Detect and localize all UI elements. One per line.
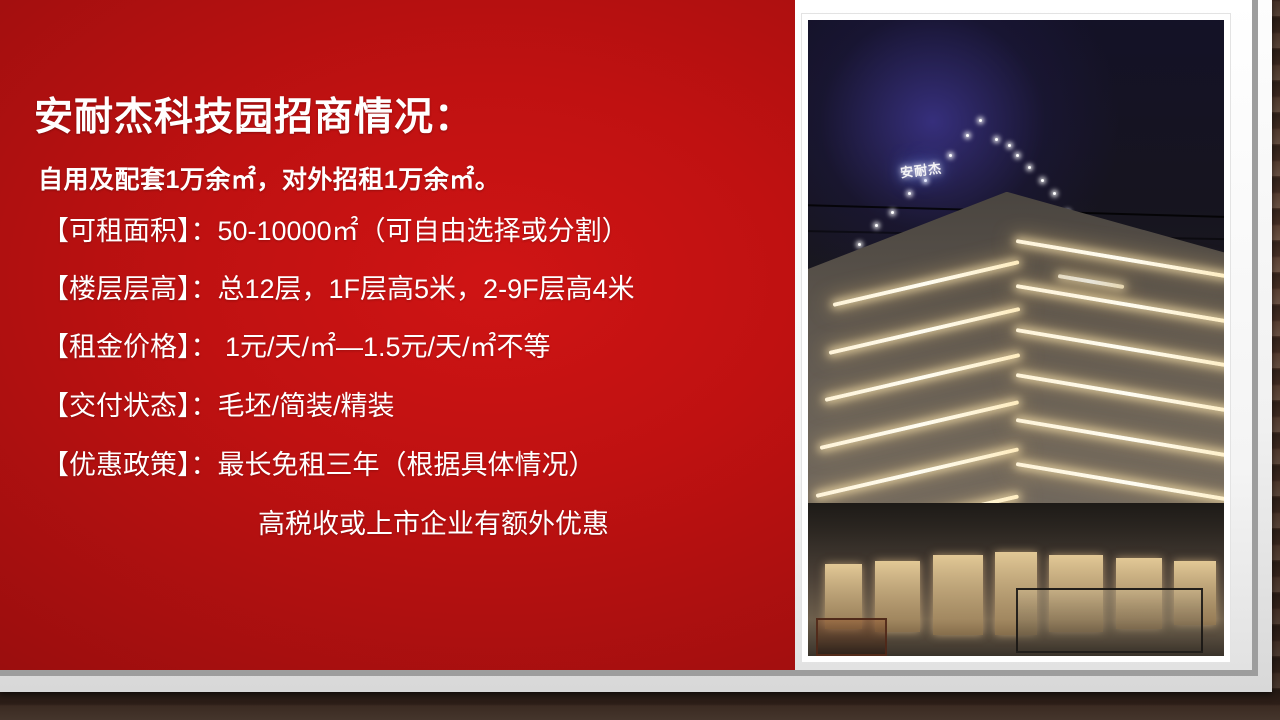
foreground-planter xyxy=(816,618,887,656)
facade-light xyxy=(1016,154,1019,157)
frame-board: 安耐杰科技园招商情况： 自用及配套1万余㎡，对外招租1万余㎡。 【可租面积】：5… xyxy=(0,0,1252,670)
facade-light xyxy=(995,138,998,141)
lobby-window xyxy=(933,555,983,634)
facade-light xyxy=(908,192,911,195)
red-content-panel: 安耐杰科技园招商情况： 自用及配套1万余㎡，对外招租1万余㎡。 【可租面积】：5… xyxy=(0,0,795,670)
facade-light xyxy=(875,224,878,227)
bullet-incentive-policy: 【优惠政策】：最长免租三年（根据具体情况） xyxy=(42,452,596,479)
bullet-rent-price: 【租金价格】： 1元/天/㎡—1.5元/天/㎡不等 xyxy=(42,334,551,361)
facade-light xyxy=(858,243,861,246)
bullet-incentive-policy-extra: 高税收或上市企业有额外优惠 xyxy=(258,511,609,538)
text-block: 安耐杰科技园招商情况： 自用及配套1万余㎡，对外招租1万余㎡。 【可租面积】：5… xyxy=(0,0,795,670)
podium-lobby xyxy=(808,503,1224,656)
facade-light xyxy=(979,119,982,122)
subheading: 自用及配套1万余㎡，对外招租1万余㎡。 xyxy=(38,160,500,196)
frame-mat-shadow: 安耐杰科技园招商情况： 自用及配套1万余㎡，对外招租1万余㎡。 【可租面积】：5… xyxy=(0,0,1258,676)
facade-light xyxy=(1008,144,1011,147)
glass-canopy xyxy=(1016,588,1203,653)
bullet-rentable-area: 【可租面积】：50-10000㎡（可自由选择或分割） xyxy=(42,218,629,245)
slide-root: 安耐杰科技园招商情况： 自用及配套1万余㎡，对外招租1万余㎡。 【可租面积】：5… xyxy=(0,0,1280,720)
building-night-photo: 安耐杰 xyxy=(808,20,1224,656)
facade-light xyxy=(1041,179,1044,182)
subheading-part-a: 自用及配套1万余㎡ xyxy=(38,166,256,194)
frame-mat-outer: 安耐杰科技园招商情况： 自用及配套1万余㎡，对外招租1万余㎡。 【可租面积】：5… xyxy=(0,0,1272,692)
bullet-floor-height: 【楼层层高】：总12层，1F层高5米，2-9F层高4米 xyxy=(42,276,635,303)
page-title: 安耐杰科技园招商情况： xyxy=(34,86,474,142)
photo-frame: 安耐杰 xyxy=(802,14,1230,662)
facade-light xyxy=(891,211,894,214)
bullet-delivery-status: 【交付状态】：毛坯/简装/精装 xyxy=(42,393,395,420)
subheading-part-b: ，对外招租1万余㎡。 xyxy=(256,166,500,194)
